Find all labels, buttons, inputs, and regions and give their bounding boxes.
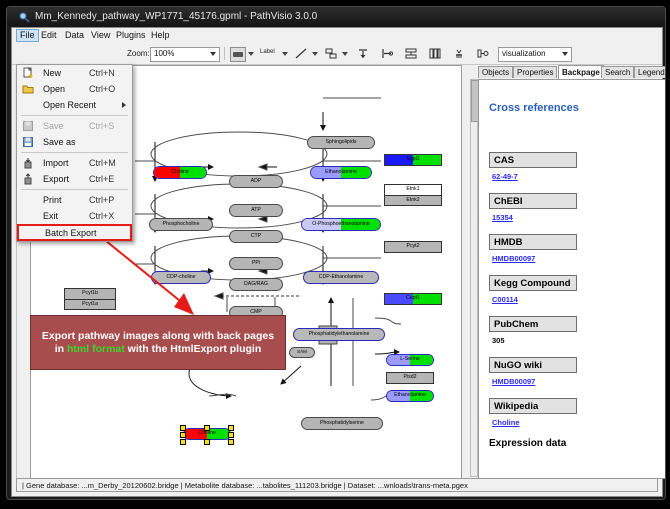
- zoom-combobox[interactable]: 100%: [150, 47, 220, 62]
- align-left-button[interactable]: [380, 47, 394, 60]
- xref-value-cas[interactable]: 62-49-7: [492, 172, 518, 181]
- xref-value-hmdb[interactable]: HMDB00097: [492, 254, 535, 263]
- menu-file[interactable]: File: [16, 29, 39, 42]
- open-folder-icon: [22, 83, 34, 95]
- node-phosphatidylserine[interactable]: Phosphatidylserine: [301, 417, 383, 430]
- shape-dropdown-icon[interactable]: [342, 52, 348, 56]
- xref-header-cas: CAS: [489, 152, 577, 168]
- statusbar-text: | Gene database: ...m_Derby_20120602.bri…: [22, 481, 468, 490]
- datanode-dropdown-icon[interactable]: [248, 52, 254, 56]
- node-ethanolamine-top[interactable]: Ethanolamine: [310, 166, 372, 179]
- menu-separator: [21, 189, 128, 190]
- visualization-combobox[interactable]: visualization: [498, 47, 572, 62]
- file-menu-dropdown[interactable]: New Ctrl+N Open Ctrl+O Open Recent: [16, 64, 133, 242]
- xref-value-pubchem: 305: [492, 336, 505, 345]
- menu-help[interactable]: Help: [148, 30, 173, 41]
- window-client-area: File Edit Data View Plugins Help Zoom: 1…: [11, 27, 663, 497]
- tab-properties[interactable]: Properties: [513, 66, 557, 78]
- gene-etnk2[interactable]: Etnk2: [384, 195, 442, 206]
- gene-pcyt1a[interactable]: Pcyt1a: [64, 299, 116, 310]
- import-icon: [22, 157, 34, 169]
- menu-data[interactable]: Data: [62, 30, 87, 41]
- node-phosphocholine[interactable]: Phosphocholine: [149, 218, 213, 231]
- file-menu-item-batch-export[interactable]: Batch Export: [17, 224, 132, 241]
- selection-handle[interactable]: [228, 425, 234, 431]
- zoom-value: 100%: [154, 49, 174, 58]
- backpage-content: Cross references CAS 62-49-7 ChEBI 15354…: [478, 79, 666, 479]
- callout-text-highlight: html format: [67, 343, 125, 355]
- node-sphingolipids[interactable]: Sphingolipids: [307, 136, 375, 149]
- line-tool-button[interactable]: [294, 47, 308, 60]
- xref-header-wikipedia: Wikipedia: [489, 398, 577, 414]
- xref-value-kegg-compound[interactable]: C00114: [492, 295, 518, 304]
- new-file-icon: [22, 67, 34, 79]
- file-menu-item-open[interactable]: Open Ctrl+O: [17, 81, 132, 97]
- group-icon: [476, 47, 490, 60]
- xref-header-pubchem: PubChem: [489, 316, 577, 332]
- node-phosphatidylethanolamine[interactable]: Phosphatidylethanolamine: [293, 328, 385, 341]
- align-top-icon: [356, 47, 370, 60]
- window-titlebar[interactable]: Mm_Kennedy_pathway_WP1771_45176.gpml - P…: [7, 7, 665, 27]
- gene-sgpl1[interactable]: Sgpl1: [384, 154, 442, 166]
- selection-handle[interactable]: [228, 432, 234, 438]
- tab-backpage[interactable]: Backpage: [558, 65, 604, 79]
- right-panel: Objects Properties Backpage Search Legen…: [470, 65, 666, 477]
- chevron-down-icon: [210, 52, 216, 56]
- visualization-value: visualization: [502, 49, 546, 58]
- toolbar: Zoom: 100% Label: [12, 43, 662, 65]
- screenshot-root: Mm_Kennedy_pathway_WP1771_45176.gpml - P…: [0, 0, 670, 509]
- expression-data-heading: Expression data: [489, 438, 566, 449]
- gene-etnk1[interactable]: Etnk1: [384, 184, 442, 195]
- menu-separator: [21, 115, 128, 116]
- node-ppi[interactable]: PPi: [229, 257, 283, 270]
- node-l-serine[interactable]: L-Serine: [386, 354, 434, 366]
- distribute-horizontal-button[interactable]: [428, 47, 442, 60]
- window-title: Mm_Kennedy_pathway_WP1771_45176.gpml - P…: [35, 11, 317, 22]
- distribute-vertical-button[interactable]: [404, 47, 418, 60]
- group-button[interactable]: [476, 47, 490, 60]
- file-menu-item-save: Save Ctrl+S: [17, 118, 132, 134]
- xref-value-chebi[interactable]: 15354: [492, 213, 513, 222]
- gene-pcyt2[interactable]: Pcyt2: [384, 241, 442, 253]
- menu-separator: [21, 152, 128, 153]
- tab-objects[interactable]: Objects: [478, 66, 513, 78]
- distribute-horizontal-icon: [428, 47, 442, 60]
- datanode-icon: [231, 48, 245, 61]
- gene-cept1[interactable]: Cept1: [384, 293, 442, 305]
- xref-value-wikipedia[interactable]: Choline: [492, 418, 520, 427]
- right-panel-tabs: Objects Properties Backpage Search Legen…: [470, 65, 666, 79]
- node-adp[interactable]: ADP: [229, 175, 283, 188]
- right-panel-scrollbar[interactable]: [470, 79, 478, 477]
- node-pisd2[interactable]: Pisd2: [386, 372, 434, 384]
- node-cdp-choline[interactable]: CDP-choline: [151, 271, 211, 284]
- node-ethanolamine-bottom[interactable]: Ethanolamine: [386, 390, 434, 402]
- file-menu-item-new[interactable]: New Ctrl+N: [17, 65, 132, 81]
- node-cdp-ethanolamine[interactable]: CDP-Ethanolamine: [303, 271, 379, 284]
- tab-legend[interactable]: Legend: [634, 66, 666, 78]
- menu-plugins[interactable]: Plugins: [113, 30, 149, 41]
- node-sam[interactable]: SAM: [289, 347, 315, 358]
- distribute-vertical-icon: [404, 47, 418, 60]
- shape-icon: [324, 47, 338, 60]
- datanode-tool-button[interactable]: [230, 47, 246, 62]
- file-menu-item-open-recent[interactable]: Open Recent: [17, 97, 132, 113]
- line-dropdown-icon[interactable]: [312, 52, 318, 56]
- annotation-callout-text: Export pathway images along with back pa…: [31, 330, 285, 356]
- xref-header-chebi: ChEBI: [489, 193, 577, 209]
- tab-search[interactable]: Search: [601, 66, 634, 78]
- align-left-icon: [380, 47, 394, 60]
- stack-button[interactable]: [452, 47, 466, 60]
- align-top-button[interactable]: [356, 47, 370, 60]
- pathvisio-app-icon: [19, 12, 30, 23]
- file-menu-item-export[interactable]: Export Ctrl+E: [17, 171, 132, 187]
- node-choline-top[interactable]: Choline: [153, 166, 207, 179]
- label-dropdown-icon[interactable]: [282, 52, 288, 56]
- node-ctp[interactable]: CTP: [229, 230, 283, 243]
- selection-handle[interactable]: [180, 439, 186, 445]
- menu-edit[interactable]: Edit: [38, 30, 60, 41]
- node-atp[interactable]: ATP: [229, 204, 283, 217]
- stack-icon: [452, 47, 466, 60]
- xref-header-nugo-wiki: NuGO wiki: [489, 357, 577, 373]
- xref-value-nugo-wiki[interactable]: HMDB00097: [492, 377, 535, 386]
- selection-handle[interactable]: [228, 439, 234, 445]
- xref-header-kegg-compound: Kegg Compound: [489, 275, 577, 291]
- selection-handle[interactable]: [204, 425, 210, 431]
- zoom-label: Zoom:: [127, 49, 150, 58]
- label-tool-button[interactable]: Label: [260, 49, 275, 55]
- file-menu-item-save-as[interactable]: Save as: [17, 134, 132, 150]
- application-window: Mm_Kennedy_pathway_WP1771_45176.gpml - P…: [6, 6, 666, 500]
- selection-handle[interactable]: [180, 432, 186, 438]
- annotation-callout: Export pathway images along with back pa…: [30, 315, 286, 370]
- chevron-down-icon: [562, 52, 568, 56]
- selection-handle[interactable]: [204, 439, 210, 445]
- menu-view[interactable]: View: [88, 30, 113, 41]
- statusbar: | Gene database: ...m_Derby_20120602.bri…: [16, 478, 658, 492]
- file-menu-item-import[interactable]: Import Ctrl+M: [17, 155, 132, 171]
- node-o-phosphoethanolamine[interactable]: O-Phosphoethanolamine: [301, 218, 381, 231]
- line-icon: [294, 47, 308, 60]
- save-icon: [22, 120, 34, 132]
- menubar: File Edit Data View Plugins Help: [12, 28, 662, 44]
- toolbar-separator: [224, 47, 225, 60]
- file-menu-item-exit[interactable]: Exit Ctrl+X: [17, 208, 132, 224]
- selection-handle[interactable]: [180, 425, 186, 431]
- node-dag-rag[interactable]: DAG/RAG: [229, 278, 283, 291]
- chevron-right-icon: [122, 102, 126, 108]
- file-menu-item-print[interactable]: Print Ctrl+P: [17, 192, 132, 208]
- export-icon: [22, 173, 34, 185]
- callout-text-part2: with the HtmlExport plugin: [125, 343, 262, 355]
- shape-tool-button[interactable]: [324, 47, 338, 60]
- cross-references-heading: Cross references: [489, 102, 579, 114]
- save-as-icon: [22, 136, 34, 148]
- xref-header-hmdb: HMDB: [489, 234, 577, 250]
- gene-pcyt1b[interactable]: Pcyt1b: [64, 288, 116, 299]
